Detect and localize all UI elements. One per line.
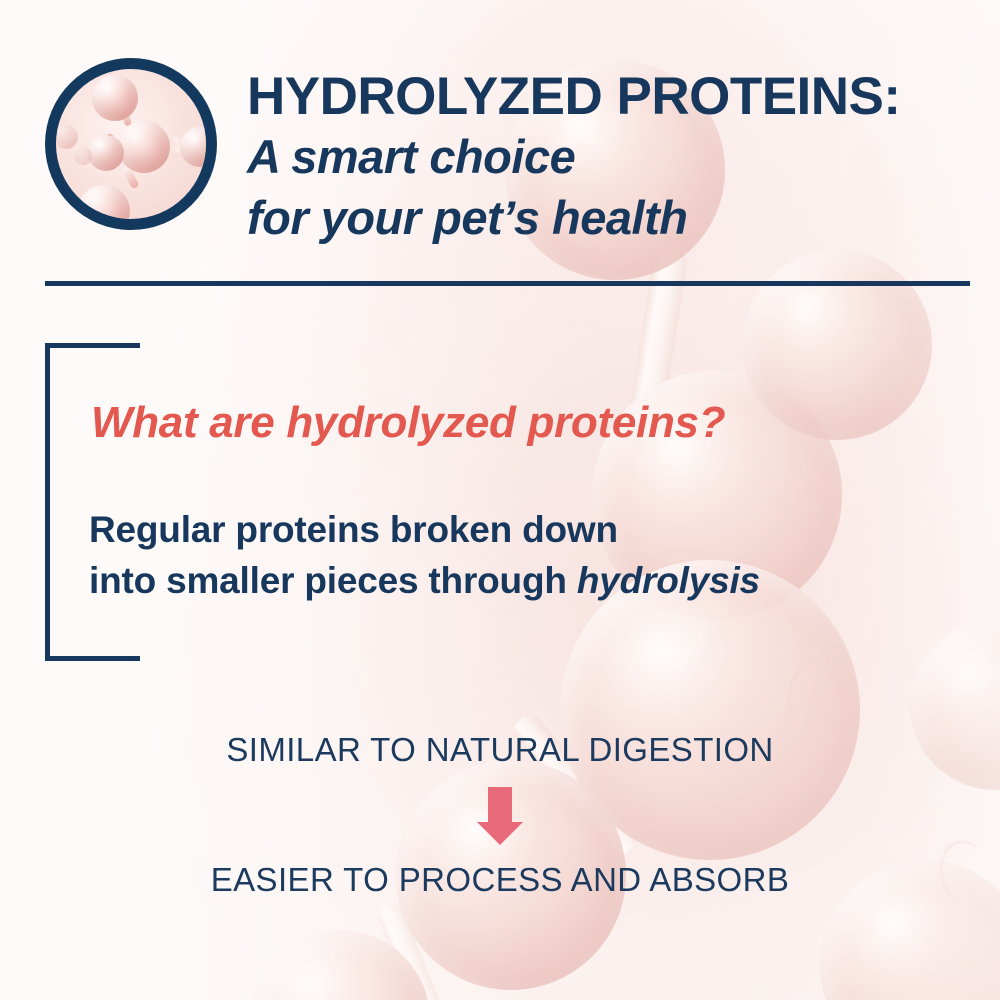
answer-line-2: into smaller pieces through hydrolysis xyxy=(89,555,760,606)
poster-header: HYDROLYZED PROTEINS: A smart choice for … xyxy=(45,58,960,247)
molecule-icon-sphere xyxy=(92,75,138,121)
answer-line-2-emphasis: hydrolysis xyxy=(577,560,760,601)
arrow-head xyxy=(477,822,523,845)
flow-step-1: SIMILAR TO NATURAL DIGESTION xyxy=(0,731,1000,769)
header-divider xyxy=(45,281,970,286)
molecule-icon-sphere xyxy=(56,125,78,149)
answer-line-2-prefix: into smaller pieces through xyxy=(89,560,577,601)
molecule-icon-sphere xyxy=(88,135,124,171)
infographic-poster: HYDROLYZED PROTEINS: A smart choice for … xyxy=(0,0,1000,1000)
background-bond xyxy=(375,900,452,1000)
arrow-stem xyxy=(488,787,512,824)
background-sphere xyxy=(250,930,430,1000)
molecule-icon-sphere xyxy=(74,147,92,165)
background-sphere xyxy=(742,250,932,440)
title-block: HYDROLYZED PROTEINS: A smart choice for … xyxy=(247,58,901,247)
page-subtitle-line-2: for your pet’s health xyxy=(247,189,901,246)
answer-line-1: Regular proteins broken down xyxy=(89,504,760,555)
section-question: What are hydrolyzed proteins? xyxy=(91,398,725,448)
bracket-decoration xyxy=(45,343,140,661)
section-answer: Regular proteins broken down into smalle… xyxy=(89,504,760,606)
molecule-icon-sphere xyxy=(118,121,170,173)
flow-step-2: EASIER TO PROCESS AND ABSORB xyxy=(0,861,1000,899)
molecule-icon-sphere xyxy=(78,185,130,219)
molecule-icon-sphere xyxy=(180,127,206,167)
arrow-down-icon xyxy=(477,787,523,845)
background-highlight xyxy=(779,654,848,734)
molecule-icon-art xyxy=(56,69,206,219)
page-subtitle-line-1: A smart choice xyxy=(247,128,901,185)
page-title: HYDROLYZED PROTEINS: xyxy=(247,70,901,124)
molecule-circle-icon xyxy=(45,58,217,230)
